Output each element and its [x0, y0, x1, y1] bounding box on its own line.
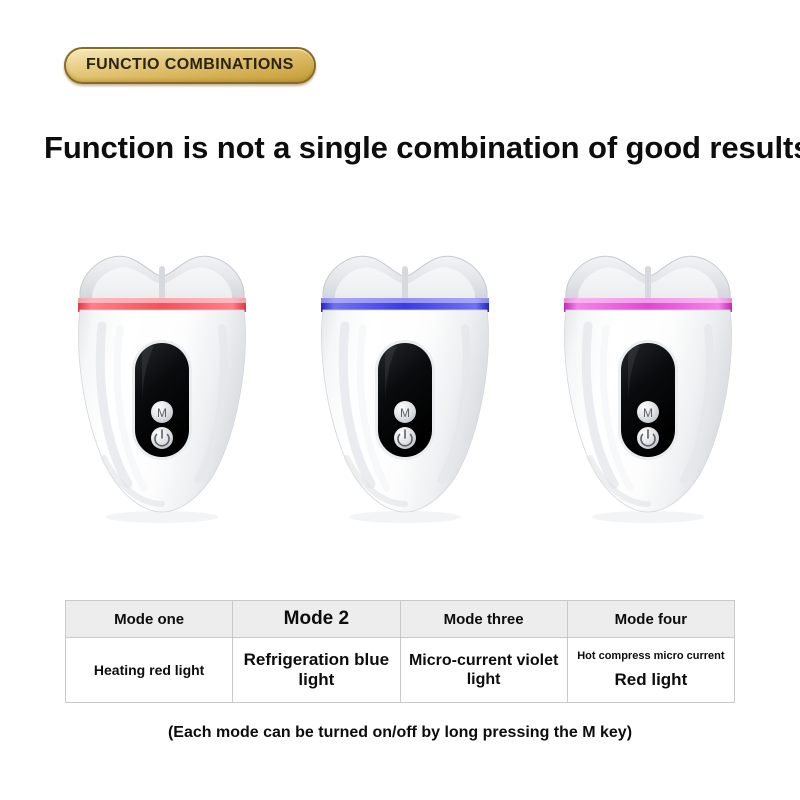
m-button-label: M	[400, 406, 410, 420]
m-button-label: M	[643, 406, 653, 420]
table-cell-mode-four-line2: Red light	[570, 671, 732, 690]
device-top-seam	[159, 266, 165, 300]
led-highlight	[564, 298, 732, 303]
table-cell-mode-three: Micro-current violet light	[400, 638, 567, 703]
table-cell-mode-one: Heating red light	[66, 638, 233, 703]
device-top-seam	[402, 266, 408, 300]
device-violet: M	[548, 236, 748, 526]
table-cell-mode-two: Refrigeration blue light	[233, 638, 400, 703]
table-header-mode-two: Mode 2	[233, 601, 400, 638]
badge-container: FUNCTIO COMBINATIONS	[64, 47, 316, 84]
device-shadow	[106, 511, 218, 523]
table-header-mode-one: Mode one	[66, 601, 233, 638]
table-header-row: Mode one Mode 2 Mode three Mode four	[66, 601, 735, 638]
mode-comparison-table: Mode one Mode 2 Mode three Mode four Hea…	[65, 600, 735, 703]
device-shadow	[592, 511, 704, 523]
table-cell-mode-four: Hot compress micro current Red light	[567, 638, 734, 703]
badge-label: FUNCTIO COMBINATIONS	[86, 56, 294, 73]
device-blue: M	[305, 236, 505, 526]
m-button-label: M	[157, 406, 167, 420]
mode-footnote: (Each mode can be turned on/off by long …	[0, 724, 800, 742]
device-top-seam	[645, 266, 651, 300]
table-row: Heating red light Refrigeration blue lig…	[66, 638, 735, 703]
table-cell-mode-four-line1: Hot compress micro current	[570, 650, 732, 662]
table-header-mode-four: Mode four	[567, 601, 734, 638]
led-highlight	[78, 298, 246, 303]
device-red: M	[62, 236, 262, 526]
led-highlight	[321, 298, 489, 303]
device-gallery: M	[0, 236, 800, 536]
device-shadow	[349, 511, 461, 523]
page-headline: Function is not a single combination of …	[44, 130, 756, 166]
table-header-mode-three: Mode three	[400, 601, 567, 638]
function-combinations-badge: FUNCTIO COMBINATIONS	[64, 47, 316, 84]
